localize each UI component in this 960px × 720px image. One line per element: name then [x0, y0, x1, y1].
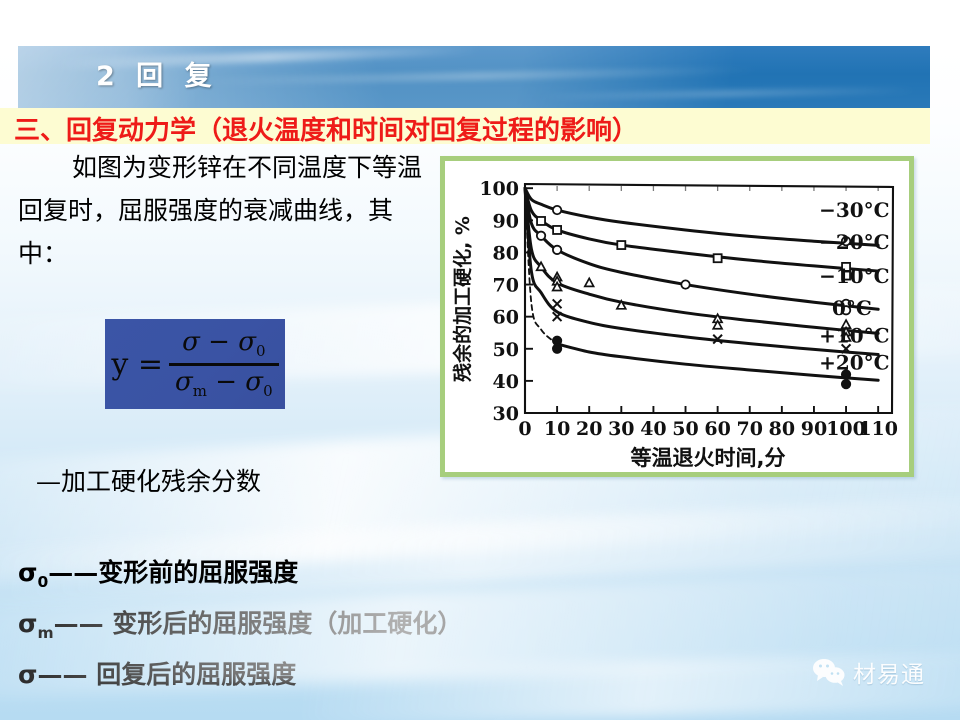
- formula-expression: y = σ − σ0 σm − σ0: [111, 328, 278, 400]
- intro-paragraph: 如图为变形锌在不同温度下等温回复时，屈服强度的衰减曲线，其中：: [18, 146, 433, 275]
- sigma-definition-row: σm—— 变形后的屈服强度（加工硬化）: [18, 603, 462, 654]
- sigma-symbol: σ: [18, 660, 37, 689]
- sigma-dash: ——: [54, 609, 104, 638]
- svg-text:30: 30: [608, 418, 634, 440]
- sigma-symbol: σm: [18, 609, 54, 638]
- svg-text:+10°C: +10°C: [819, 323, 890, 347]
- sigma-description: 变形后的屈服强度（加工硬化）: [104, 609, 463, 638]
- formula-lhs: y =: [111, 347, 163, 382]
- svg-text:−10°C: −10°C: [819, 264, 890, 288]
- formula-denominator-subscript-0: 0: [263, 382, 273, 400]
- svg-text:80: 80: [769, 418, 795, 440]
- svg-text:20: 20: [576, 418, 602, 440]
- section-heading-text: 三、回复动力学（退火温度和时间对回复过程的影响）: [14, 110, 638, 147]
- formula-fraction-bar: [169, 363, 279, 366]
- svg-text:90: 90: [493, 210, 519, 232]
- svg-text:70: 70: [737, 418, 763, 440]
- svg-text:70: 70: [493, 275, 519, 297]
- formula-numerator-subscript: 0: [256, 342, 266, 360]
- svg-text:−30°C: −30°C: [819, 198, 890, 222]
- chart-panel: 0102030405060708090100110304050607080901…: [440, 156, 914, 477]
- svg-text:0: 0: [518, 418, 531, 440]
- svg-text:50: 50: [493, 339, 519, 361]
- svg-text:110: 110: [858, 418, 898, 440]
- svg-text:30: 30: [493, 403, 519, 425]
- svg-text:40: 40: [493, 371, 519, 393]
- svg-text:0°C: 0°C: [832, 296, 872, 320]
- sigma-definition-list: σ0——变形前的屈服强度 σm—— 变形后的屈服强度（加工硬化） σ—— 回复后…: [18, 552, 462, 696]
- formula-denominator: σm − σ0: [169, 368, 279, 400]
- formula-denominator-sigma: σ: [175, 367, 193, 397]
- sigma-definition-row: σ—— 回复后的屈服强度: [18, 654, 462, 696]
- sigma-subscript: m: [37, 624, 53, 642]
- sigma-glyph: σ: [18, 609, 37, 638]
- sigma-glyph: σ: [18, 558, 37, 587]
- svg-text:+20°C: +20°C: [819, 351, 890, 375]
- svg-text:50: 50: [672, 418, 698, 440]
- svg-text:10: 10: [544, 418, 570, 440]
- title-banner: 2 回 复: [18, 46, 930, 108]
- section-heading-band: 三、回复动力学（退火温度和时间对回复过程的影响）: [0, 108, 930, 144]
- svg-text:80: 80: [493, 242, 519, 264]
- svg-text:−20°C: −20°C: [819, 230, 890, 254]
- formula-denominator-rest: − σ: [215, 367, 263, 397]
- banner-light-streak: [198, 66, 758, 86]
- wechat-icon: [812, 658, 846, 686]
- sigma-description: 变形前的屈服强度: [98, 558, 298, 587]
- formula-denominator-subscript-m: m: [193, 382, 207, 400]
- svg-text:90: 90: [801, 418, 827, 440]
- sigma-description: 回复后的屈服强度: [87, 660, 296, 689]
- formula-fraction: σ − σ0 σm − σ0: [169, 328, 279, 400]
- note-line: —加工硬化残余分数: [36, 462, 261, 498]
- sigma-subscript: 0: [37, 573, 48, 591]
- formula-numerator-text: σ − σ: [182, 327, 256, 357]
- sigma-dash: ——: [48, 558, 98, 587]
- formula-box: y = σ − σ0 σm − σ0: [105, 319, 285, 409]
- recovery-kinetics-chart: 0102030405060708090100110304050607080901…: [447, 163, 907, 470]
- sigma-symbol: σ0: [18, 558, 48, 587]
- formula-numerator: σ − σ0: [176, 328, 271, 360]
- sigma-glyph: σ: [18, 660, 37, 689]
- watermark-label: 材易通: [853, 655, 925, 689]
- sigma-dash: ——: [37, 660, 87, 689]
- svg-text:100: 100: [479, 178, 519, 200]
- svg-text:60: 60: [493, 307, 519, 329]
- svg-text:等温退火时间,分: 等温退火时间,分: [631, 446, 786, 470]
- svg-text:40: 40: [640, 418, 666, 440]
- slide-title: 2 回 复: [96, 54, 218, 93]
- chart-inner: 0102030405060708090100110304050607080901…: [447, 163, 907, 470]
- banner-light-streak: [538, 87, 918, 101]
- svg-text:残余的加工硬化, %: 残余的加工硬化, %: [451, 216, 474, 382]
- watermark: 材易通: [812, 655, 925, 689]
- svg-text:60: 60: [704, 418, 730, 440]
- slide-canvas: 2 回 复 三、回复动力学（退火温度和时间对回复过程的影响） 如图为变形锌在不同…: [0, 0, 960, 720]
- sigma-definition-row: σ0——变形前的屈服强度: [18, 552, 462, 603]
